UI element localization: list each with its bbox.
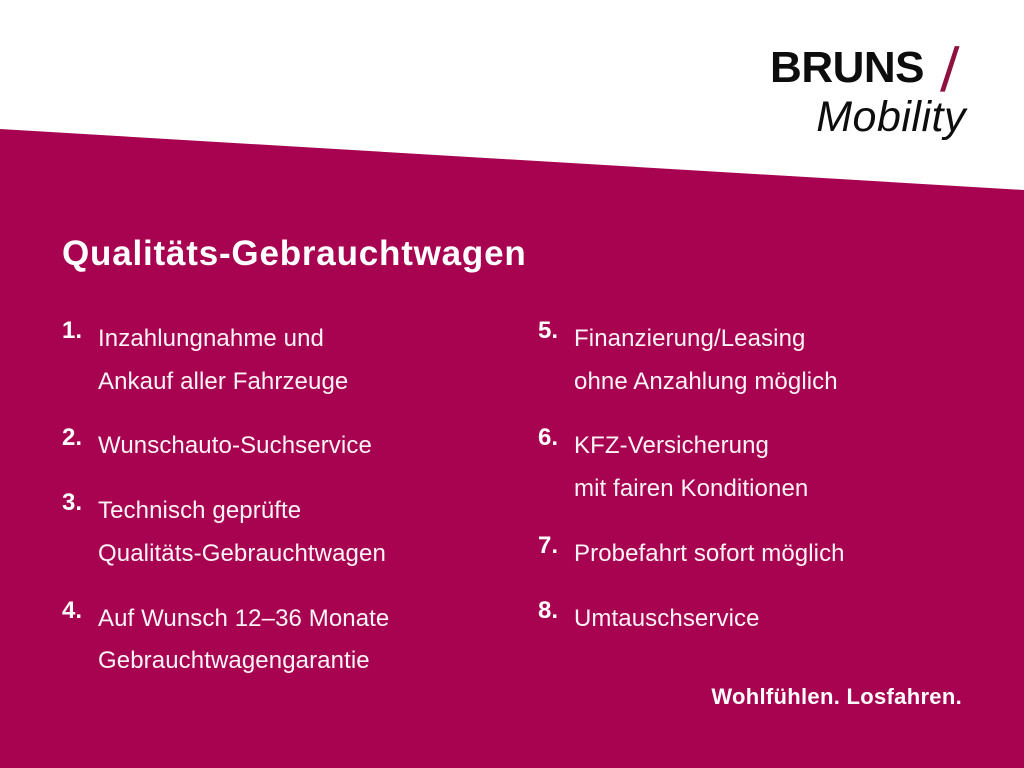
brand-tagline: Wohlfühlen. Losfahren. (711, 684, 962, 710)
list-item-label: Umtauschservice (574, 598, 988, 641)
list-item-number: 3. (62, 490, 98, 516)
list-item: 6. KFZ-Versicherung mit fairen Kondition… (538, 425, 988, 510)
slide-canvas: BRUNS / Mobility Qualitäts-Gebrauchtwage… (0, 0, 1024, 768)
logo-subtitle-mobility: Mobility (816, 96, 966, 139)
list-item: 1. Inzahlungnahme und Ankauf aller Fahrz… (62, 318, 532, 403)
list-item: 8. Umtauschservice (538, 598, 988, 641)
logo-wordmark-bruns: BRUNS (770, 46, 924, 90)
list-item: 7. Probefahrt sofort möglich (538, 533, 988, 576)
list-item-label: Inzahlungnahme und Ankauf aller Fahrzeug… (98, 318, 532, 403)
list-item-number: 2. (62, 425, 98, 451)
feature-list-right: 5. Finanzierung/Leasing ohne Anzahlung m… (538, 318, 988, 662)
list-item-number: 7. (538, 533, 574, 559)
list-item-label: Probefahrt sofort möglich (574, 533, 988, 576)
list-item-label: Auf Wunsch 12–36 Monate Gebrauchtwagenga… (98, 598, 532, 683)
list-item-number: 5. (538, 318, 574, 344)
list-item: 2. Wunschauto-Suchservice (62, 425, 532, 468)
list-item-label: Wunschauto-Suchservice (98, 425, 532, 468)
list-item-label: KFZ-Versicherung mit fairen Konditionen (574, 425, 988, 510)
list-item-number: 6. (538, 425, 574, 451)
list-item: 5. Finanzierung/Leasing ohne Anzahlung m… (538, 318, 988, 403)
list-item-label: Technisch geprüfte Qualitäts-Gebrauchtwa… (98, 490, 532, 575)
list-item: 4. Auf Wunsch 12–36 Monate Gebrauchtwage… (62, 598, 532, 683)
brand-logo[interactable]: BRUNS / Mobility (646, 46, 966, 154)
list-item: 3. Technisch geprüfte Qualitäts-Gebrauch… (62, 490, 532, 575)
feature-list-left: 1. Inzahlungnahme und Ankauf aller Fahrz… (62, 318, 532, 705)
list-item-label: Finanzierung/Leasing ohne Anzahlung mögl… (574, 318, 988, 403)
page-title: Qualitäts-Gebrauchtwagen (62, 234, 527, 274)
list-item-number: 8. (538, 598, 574, 624)
list-item-number: 1. (62, 318, 98, 344)
list-item-number: 4. (62, 598, 98, 624)
